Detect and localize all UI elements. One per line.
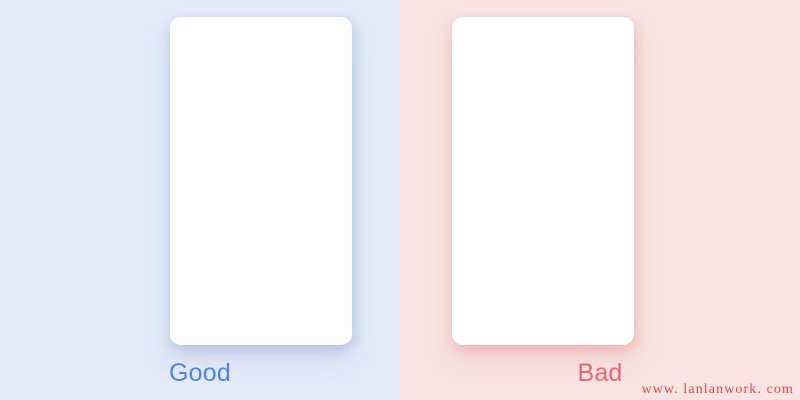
card-screen-good [170, 17, 352, 345]
card-screen-bad [452, 17, 634, 345]
caption-good: Good [0, 358, 400, 388]
panel-good: Good [0, 0, 400, 400]
panel-bad: Bad www. lanlanwork. com [400, 0, 800, 400]
comparison-board: Good Bad www. lanlanwork. com [0, 0, 800, 400]
watermark: www. lanlanwork. com [641, 381, 794, 398]
preview-card-good[interactable] [170, 17, 352, 345]
preview-card-bad[interactable] [452, 17, 634, 345]
